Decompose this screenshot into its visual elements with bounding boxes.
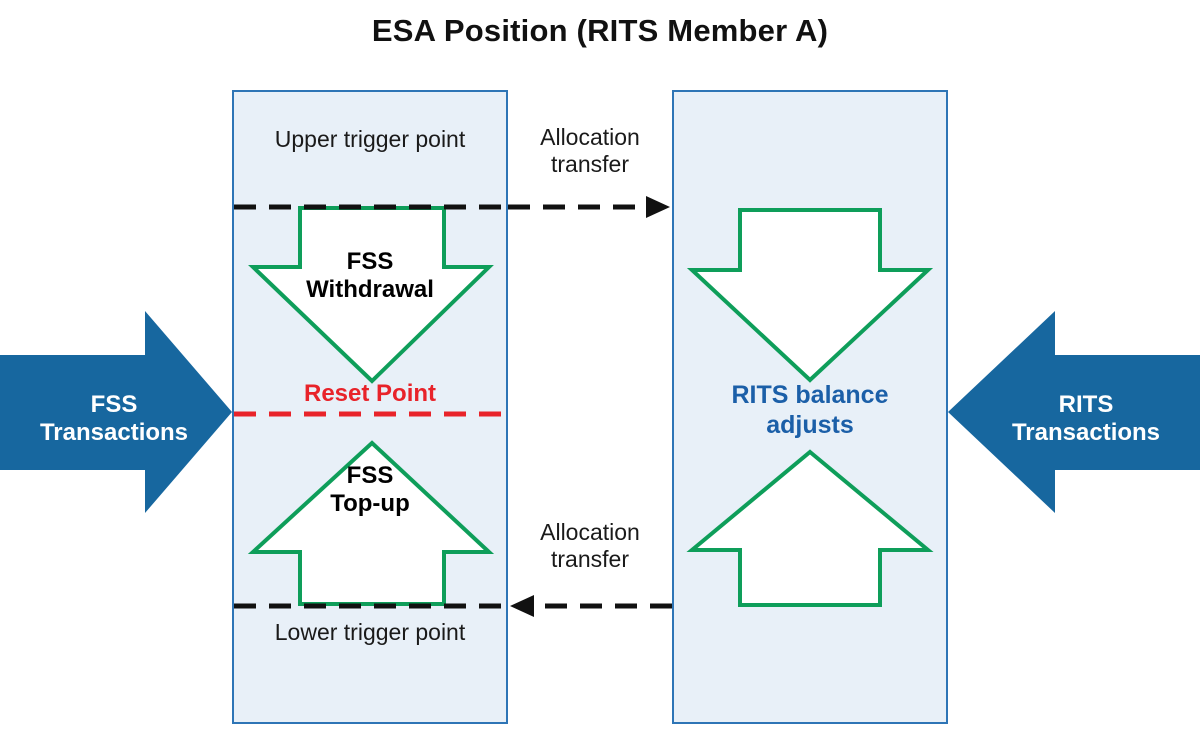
reset-point-label: Reset Point: [232, 380, 508, 408]
upper-trigger-point-label: Upper trigger point: [232, 126, 508, 153]
fss-withdrawal-label: FSS Withdrawal: [242, 248, 498, 305]
rits-balance-adjusts-label: RITS balance adjusts: [672, 381, 948, 440]
rits-transactions-label: RITS Transactions: [986, 391, 1186, 448]
diagram-vectors: [0, 0, 1200, 745]
rits-down-green-arrow: [692, 210, 928, 380]
lower-trigger-point-label: Lower trigger point: [232, 619, 508, 646]
fss-transactions-label: FSS Transactions: [14, 391, 214, 448]
fss-top-up-label: FSS Top-up: [242, 462, 498, 519]
allocation-transfer-bottom-label: Allocation transfer: [508, 519, 672, 573]
allocation-transfer-bottom-arrowhead: [510, 595, 534, 617]
allocation-transfer-top-label: Allocation transfer: [508, 124, 672, 178]
rits-up-green-arrow: [692, 452, 928, 605]
allocation-transfer-top-arrowhead: [646, 196, 670, 218]
diagram-canvas: ESA Position (RITS Member A) Upper trigg…: [0, 0, 1200, 745]
